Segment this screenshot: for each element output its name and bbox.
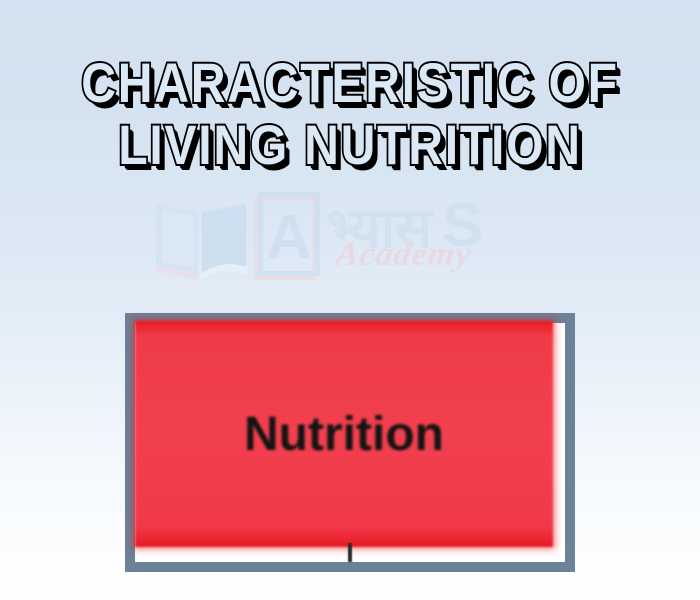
watermark-square-border [258,192,320,276]
watermark-devanagari: भ्यास [326,188,431,264]
title-line-2: LIVING NUTRITION [49,114,651,176]
slide-canvas: A भ्यास S Academy CHARACTERISTIC OF LIVI… [0,0,700,600]
flowchart-node-label: Nutrition [135,321,553,547]
connector-stub [348,543,352,562]
watermark-tagline: Academy [334,236,473,274]
title-line-1: CHARACTERISTIC OF [49,52,651,114]
watermark-letter-s: S [442,190,483,261]
open-book-icon [154,196,250,280]
watermark-square-accent [254,196,316,280]
watermark-logo: A भ्यास S Academy [150,190,550,290]
watermark-letter-a: A [258,196,320,280]
page-title: CHARACTERISTIC OF LIVING NUTRITION [0,52,700,176]
